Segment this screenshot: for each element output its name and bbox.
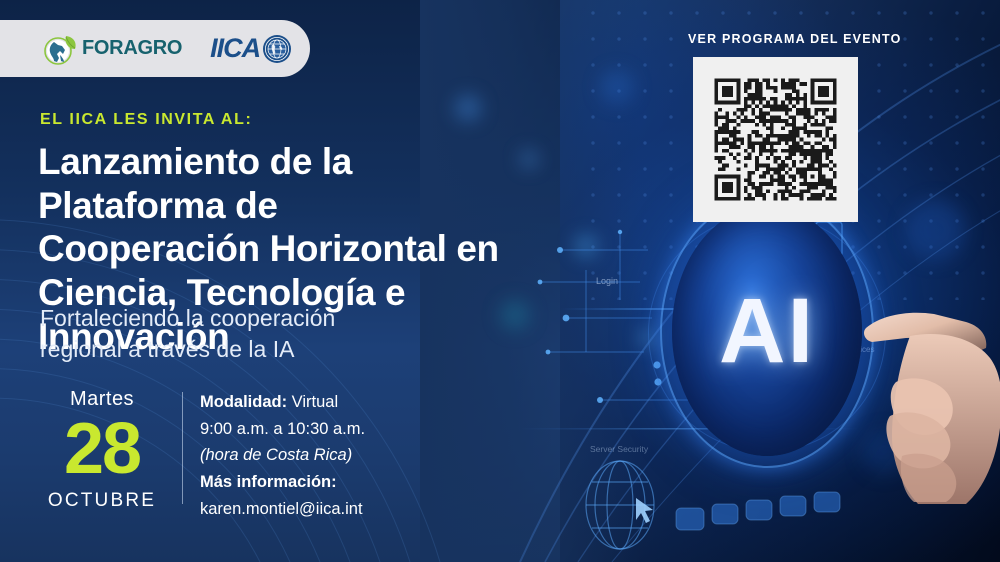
contact-email[interactable]: karen.montiel@iica.int	[200, 496, 365, 523]
date-day-of-week: Martes	[36, 388, 168, 411]
qr-label: VER PROGRAMA DEL EVENTO	[688, 32, 902, 46]
vertical-divider	[182, 392, 183, 504]
modality-value: Virtual	[292, 393, 338, 411]
ai-badge-label: AI	[672, 206, 862, 456]
pointing-hand-icon	[862, 296, 1000, 506]
date-month: OCTUBRE	[36, 490, 168, 512]
foragro-logo: FORAGRO	[42, 31, 182, 67]
detail-modality: Modalidad: Virtual	[200, 389, 365, 416]
iica-logo: IICA	[210, 33, 292, 64]
invitation-kicker: EL IICA LES INVITA AL:	[40, 111, 252, 129]
modality-label: Modalidad:	[200, 393, 287, 411]
detail-timezone: (hora de Costa Rica)	[200, 442, 365, 469]
detail-time: 9:00 a.m. a 10:30 a.m.	[200, 416, 365, 443]
event-date-block: Martes 28 OCTUBRE	[36, 388, 168, 512]
qr-code-card[interactable]	[693, 57, 858, 222]
date-day-number: 28	[36, 415, 168, 484]
more-info-label: Más información:	[200, 469, 365, 496]
foragro-wordmark: FORAGRO	[82, 37, 182, 60]
globe-leaf-icon	[42, 31, 80, 67]
hud-login-label: Login	[596, 276, 618, 286]
qr-code-icon[interactable]	[707, 71, 844, 208]
event-details: Modalidad: Virtual 9:00 a.m. a 10:30 a.m…	[200, 389, 365, 523]
iica-wordmark: IICA	[210, 33, 260, 64]
event-poster: Login Devices Server Security AI	[0, 0, 1000, 562]
hud-server-label: Server Security	[590, 444, 649, 454]
globe-seal-icon	[262, 34, 292, 64]
subtitle: Fortaleciendo la cooperación regional a …	[40, 303, 420, 365]
logo-bar: FORAGRO IICA	[0, 20, 310, 77]
